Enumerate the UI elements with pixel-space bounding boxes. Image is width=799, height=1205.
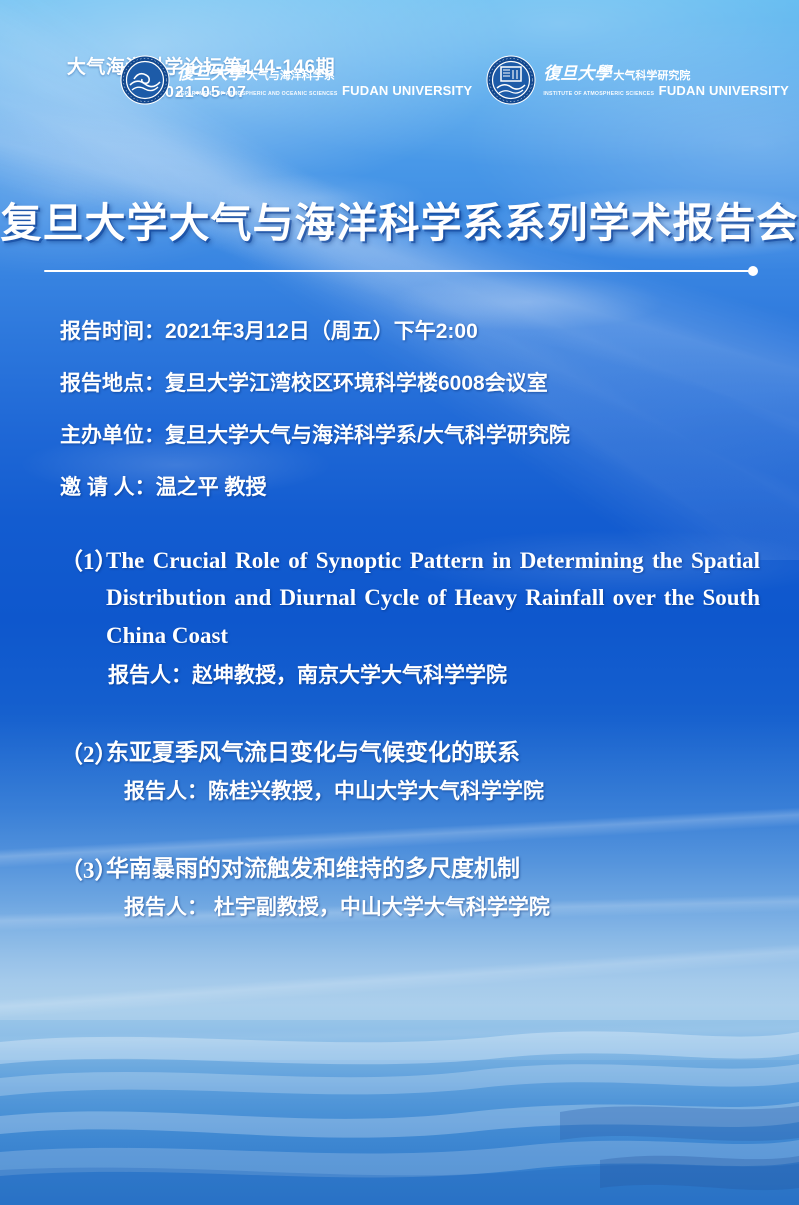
talk-number: （3）: [60, 851, 106, 885]
title-divider: [44, 269, 756, 273]
talk-list: （1） The Crucial Role of Synoptic Pattern…: [60, 542, 760, 953]
talk-item-1: （1） The Crucial Role of Synoptic Pattern…: [60, 542, 760, 691]
talk-item-3: （3） 华南暴雨的对流触发和维持的多尺度机制 报告人： 杜宇副教授，中山大学大气…: [60, 851, 760, 923]
info-value: 复旦大学大气与海洋科学系/大气科学研究院: [165, 419, 570, 449]
poster-header: 大气海洋科学论坛第144-146期 2021-05-07: [0, 0, 799, 130]
talk-number: （1）: [60, 542, 106, 576]
talk-speaker: 报告人： 杜宇副教授，中山大学大气科学学院: [60, 892, 760, 924]
info-label: 报告时间：: [60, 315, 165, 345]
info-label: 主办单位：: [60, 419, 165, 449]
logo-sub-en: INSTITUTE OF ATMOSPHERIC SCIENCES: [543, 91, 654, 97]
logo-fudan-ias: 復旦大學 大气科学研究院 INSTITUTE OF ATMOSPHERIC SC…: [486, 55, 789, 110]
talk-title: 华南暴雨的对流触发和维持的多尺度机制: [106, 851, 760, 886]
talk-number: （2）: [60, 735, 106, 769]
page-title: 复旦大学大气与海洋科学系系列学术报告会: [0, 200, 799, 247]
talk-item-2: （2） 东亚夏季风气流日变化与气候变化的联系 报告人：陈桂兴教授，中山大学大气科…: [60, 735, 760, 807]
fudan-aos-seal-icon: [120, 55, 170, 110]
info-row-inviter: 邀 请 人： 温之平 教授: [60, 471, 760, 501]
info-label: 邀 请 人：: [60, 471, 156, 501]
logo-sub-en: DEPARTMENT OF ATMOSPHERIC AND OCEANIC SC…: [177, 91, 338, 97]
logo-main-en: FUDAN UNIVERSITY: [342, 83, 472, 98]
talk-title: The Crucial Role of Synoptic Pattern in …: [106, 542, 760, 654]
logo-main-en: FUDAN UNIVERSITY: [659, 83, 789, 98]
water-waves-layer: [0, 1020, 799, 1205]
divider-dot-icon: [748, 266, 758, 276]
info-value: 复旦大学江湾校区环境科学楼6008会议室: [165, 367, 548, 397]
divider-bar: [44, 270, 756, 272]
talk-speaker: 报告人：赵坤教授，南京大学大气科学学院: [60, 660, 760, 692]
title-section: 复旦大学大气与海洋科学系系列学术报告会: [0, 200, 799, 273]
info-row-organizer: 主办单位： 复旦大学大气与海洋科学系/大气科学研究院: [60, 419, 760, 449]
logo-unit-cn: 大气与海洋科学系: [247, 71, 335, 83]
logo-fudan-aos-text: 復旦大學 大气与海洋科学系 DEPARTMENT OF ATMOSPHERIC …: [177, 65, 473, 100]
event-info-list: 报告时间： 2021年3月12日（周五）下午2:00 报告地点： 复旦大学江湾校…: [60, 315, 760, 523]
seminar-poster: 大气海洋科学论坛第144-146期 2021-05-07: [0, 0, 799, 1205]
logo-brand-cn: 復旦大學: [177, 65, 245, 83]
info-row-time: 报告时间： 2021年3月12日（周五）下午2:00: [60, 315, 760, 345]
info-value: 温之平 教授: [156, 471, 267, 501]
talk-title: 东亚夏季风气流日变化与气候变化的联系: [106, 735, 760, 770]
info-label: 报告地点：: [60, 367, 165, 397]
logo-fudan-aos: 復旦大學 大气与海洋科学系 DEPARTMENT OF ATMOSPHERIC …: [120, 55, 473, 110]
fudan-ias-seal-icon: [486, 55, 536, 110]
info-row-location: 报告地点： 复旦大学江湾校区环境科学楼6008会议室: [60, 367, 760, 397]
talk-speaker: 报告人：陈桂兴教授，中山大学大气科学学院: [60, 776, 760, 808]
logo-fudan-ias-text: 復旦大學 大气科学研究院 INSTITUTE OF ATMOSPHERIC SC…: [543, 65, 789, 100]
logo-group: 復旦大學 大气与海洋科学系 DEPARTMENT OF ATMOSPHERIC …: [120, 55, 789, 110]
logo-unit-cn: 大气科学研究院: [613, 71, 690, 83]
logo-brand-cn: 復旦大學: [543, 65, 611, 83]
info-value: 2021年3月12日（周五）下午2:00: [165, 315, 478, 345]
water-waves-icon: [0, 1020, 799, 1205]
